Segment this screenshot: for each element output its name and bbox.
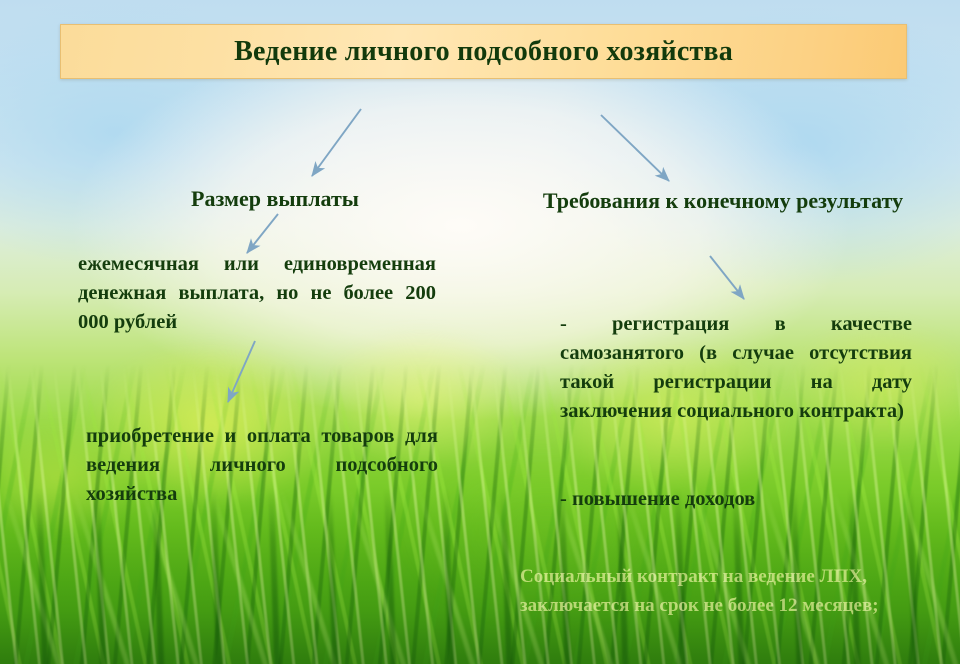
left-column-block-payment-amount: ежемесячная или единовременная денежная … (78, 250, 436, 337)
left-column-block-purchase: приобретение и оплата товаров для ведени… (86, 422, 438, 509)
footnote-line-2: заключается на срок не более 12 месяцев; (520, 592, 920, 621)
left-column-block-purchase-text: приобретение и оплата товаров для ведени… (86, 422, 438, 509)
right-column-block-registration: - регистрация в качестве самозанятого (в… (560, 310, 912, 426)
footnote-line-1: Социальный контракт на ведение ЛПХ, (520, 563, 920, 592)
left-column-heading: Размер выплаты (110, 186, 440, 212)
page-title: Ведение личного подсобного хозяйства (234, 36, 733, 68)
right-column-block-income-text: - повышение доходов (560, 485, 912, 514)
title-banner: Ведение личного подсобного хозяйства (60, 24, 907, 79)
right-column-heading: Требования к конечному результату (538, 186, 908, 215)
right-column-block-income: - повышение доходов (560, 485, 912, 514)
left-column-block-payment-amount-text: ежемесячная или единовременная денежная … (78, 250, 436, 337)
footnote-contract-duration: Социальный контракт на ведение ЛПХ, закл… (520, 563, 920, 620)
slide-root: Ведение личного подсобного хозяйства Раз… (0, 0, 960, 664)
right-column-block-registration-text: - регистрация в качестве самозанятого (в… (560, 310, 912, 426)
